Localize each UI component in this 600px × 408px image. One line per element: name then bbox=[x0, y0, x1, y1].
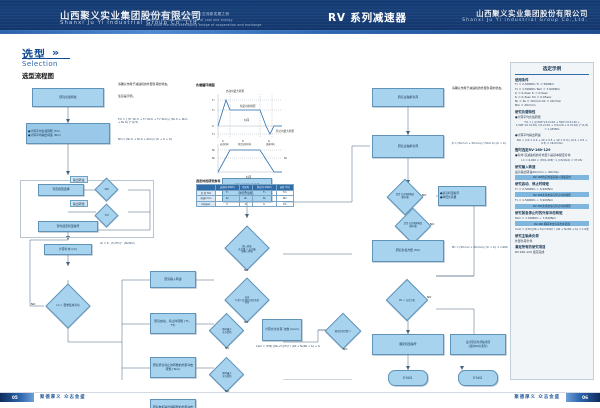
condition-table: 启动时 (MAX) 恒定时 停止时 (MAX) 运转 平均 负 荷 Nm T₁ … bbox=[196, 184, 294, 207]
load-cycle-diagram-svg: T₁T₂ 0T₃ N₁N₂ N₃ 启动时最大转矩 恒定时的转矩 停止时最大转矩 … bbox=[196, 88, 306, 180]
panel-emergency-body: Tem = 7,000Nm < 7,840Nm bbox=[515, 216, 589, 220]
section-title-en: Selection bbox=[22, 60, 58, 68]
header-accent-band bbox=[0, 30, 600, 34]
no-label-tilt-1: NO bbox=[422, 193, 426, 197]
section-rule bbox=[22, 58, 70, 59]
load-cycle-diagram-title: 负载循环简图 bbox=[196, 82, 215, 87]
svg-text:减速时间: 减速时间 bbox=[266, 142, 275, 146]
catalog-page: 山西聚义实业集团股份有限公司 Shanxi Ju Yi industrial G… bbox=[0, 0, 600, 408]
panel-heading-main-bearing: 研究主轴承负荷 bbox=[515, 233, 589, 238]
node-study-moment-2[interactable]: 研究主轴承负荷 bbox=[372, 135, 444, 158]
formula-beta: β = (50·ℓ₁·ℓ₂ + 50·ℓ₃·ℓ₄) / (50·ℓ₁·ℓ₂) (… bbox=[452, 142, 510, 145]
panel-emergency-bar: RV-160 瞬间冲击负荷允许范围 bbox=[515, 221, 589, 226]
label-output-speed: 输出转速 bbox=[70, 176, 88, 183]
svg-text:恒定运转时间: 恒定运转时间 bbox=[238, 142, 251, 146]
svg-text:T₂: T₂ bbox=[212, 108, 215, 112]
node-study-start-stop[interactable]: 研究启动、停止时转矩 (T1、T3) bbox=[150, 313, 196, 334]
panel-load-formula-1: Tm = [ (2,500³×0.2×10 + 500³×0.5×20 + 1,… bbox=[515, 121, 589, 132]
svg-text:启动时间: 启动时间 bbox=[220, 142, 229, 146]
svg-text:N₃: N₃ bbox=[284, 156, 287, 160]
panel-start-body-2: T₃ = 1,500Nm < 3,920Nm bbox=[515, 198, 589, 202]
formula-cycles: Cem = (T/N)·[(N₁+T₁)/T₀]³ / (40 + N₁/60 … bbox=[252, 345, 324, 348]
node-calc-cycles[interactable]: 计算允许负荷 次数 (Cem) bbox=[262, 319, 302, 341]
panel-load-bullet-2: ●计算平均输出转速 bbox=[515, 133, 589, 137]
header-slogan-en-1: Walk on the new industry road of coal an… bbox=[146, 18, 233, 22]
panel-start-bar-2: RV-160允许启动与停止时的转矩 bbox=[515, 204, 589, 209]
formula-average-speed: Nm = (N₁·t₁ + N₂·t₂ + N₃·t₃) / (t₁ + t₂ … bbox=[118, 138, 190, 141]
panel-tentative-formula: Lh = 6,000 × (70/1,435)³ × (15/16.0) = 3… bbox=[515, 159, 589, 163]
panel-title: 选定示例 bbox=[515, 66, 589, 75]
no-label-moment: NO bbox=[427, 295, 431, 299]
svg-text:N₁: N₁ bbox=[212, 148, 215, 152]
svg-text:时间: 时间 bbox=[244, 118, 250, 122]
node-tentative-selection[interactable]: 暂定模型选择 bbox=[38, 184, 84, 196]
panel-heading-conditions: 使用条件 bbox=[515, 77, 589, 82]
node-end-right[interactable]: END bbox=[458, 370, 498, 386]
note-example: 注意是示例。 bbox=[118, 94, 182, 98]
formula-moment: Mc = (50·ℓ₁·ℓ₂ + 50·ℓ₃·ℓ₄) / (ℓ₁ > ℓ₂) ×… bbox=[452, 246, 510, 249]
note-confirm-load: 请确认作用于减速机的外部负荷的状态。 bbox=[118, 82, 182, 86]
panel-tentative-body: ●寿命:该减速机的寿命至少是基本额定寿命 bbox=[515, 153, 589, 157]
svg-text:停止时最大转矩: 停止时最大转矩 bbox=[276, 129, 295, 133]
footer-motto-right: 聚德厚义 众志金盛 bbox=[514, 394, 560, 400]
cell: t₂ bbox=[239, 201, 252, 207]
svg-text:启动时最大转矩: 启动时最大转矩 bbox=[226, 89, 245, 93]
no-label-life: NO bbox=[31, 302, 35, 306]
panel-input-speed-bar: RV-160的实用最高输入转速适用 bbox=[515, 175, 589, 180]
no-label-input: NO bbox=[244, 268, 248, 272]
table-row: 时间sec t₁ t₂ t₃ tm bbox=[197, 201, 294, 207]
page-title: RV 系列减速器 bbox=[328, 10, 407, 25]
node-study-emergency[interactable]: 研究紧急停止时转数的外部冲击转矩 (Tem) bbox=[150, 357, 196, 378]
panel-main-bearing-body: 外部负荷条件 bbox=[515, 239, 589, 243]
panel-heading-load: 研究负载特性 bbox=[515, 109, 589, 114]
footer-motto-left: 聚德厚义 众志金盛 bbox=[40, 394, 86, 400]
selection-example-panel: 选定示例 使用条件 T₁ = 2,500Nm T₂ = 500Nm T₃ = 1… bbox=[510, 62, 594, 380]
node-calc-average[interactable]: ●计算平均负载转矩 (Tm) ●计算平均输出转速 (Nm) bbox=[26, 123, 110, 144]
node-fix-model[interactable]: 确定机型编号 bbox=[372, 334, 444, 355]
node-calc-life[interactable]: 计算寿命 (Lh) bbox=[44, 244, 92, 255]
panel-conditions-body: T₁ = 2,500Nm T₂ = 500Nm T₃ = 1,500Nm Tem… bbox=[515, 82, 589, 107]
svg-text:时间: 时间 bbox=[246, 175, 252, 179]
panel-satisfied-body: RV-160-129 选定完成 bbox=[515, 250, 589, 254]
no-label-start: NO bbox=[244, 320, 248, 324]
panel-heading-emergency: 研究紧急停止时的外部冲击转矩 bbox=[515, 210, 589, 215]
no-label-tilt-2: NO bbox=[430, 222, 434, 226]
panel-heading-input-speed: 研究输入转速 bbox=[515, 164, 589, 169]
node-study-motor-shaft[interactable]: 研究电机输出轴转矩的外部冲击转矩 (Tout) bbox=[150, 399, 196, 408]
footer-divider bbox=[0, 392, 600, 393]
cell: 时间sec bbox=[197, 201, 216, 207]
section-subtitle: 选型流程图 bbox=[22, 71, 54, 80]
node-study-moment[interactable]: 研究负载方矩 (Mc) bbox=[372, 240, 444, 262]
svg-text:T₁: T₁ bbox=[212, 98, 215, 102]
panel-heading-tentative: 暂时选定RV-160-129 bbox=[515, 147, 589, 152]
node-design-external[interactable]: 设计研究外部轴承部 (使用RV标准型) bbox=[450, 334, 506, 355]
node-study-input-speed[interactable]: 研究输入转速 bbox=[150, 271, 196, 288]
node-tentative-model[interactable]: 暂时选定机型编号 bbox=[38, 221, 98, 232]
formula-average-torque: Tm = [ (T₁³·N₁·t₁ + T₂³·N₂·t₂ + T₃³·N₃·t… bbox=[118, 118, 190, 125]
cell: t₁ bbox=[215, 201, 239, 207]
header-slogan-en-2: and build the new developing bridge of c… bbox=[146, 23, 262, 27]
speed-curve bbox=[218, 150, 282, 172]
page-header: 山西聚义实业集团股份有限公司 Shanxi Ju Yi industrial G… bbox=[0, 0, 600, 34]
panel-heading-satisfied: 满足所有的研究项目 bbox=[515, 244, 589, 249]
page-number-left: 05 bbox=[12, 395, 18, 400]
panel-heading-start-stop: 研究启动、停止时转矩 bbox=[515, 181, 589, 186]
panel-cycles-formula: Cem = (T/N)·[(N₁+T₁)/7,000]³ / (40 + N₁/… bbox=[515, 228, 589, 232]
panel-start-bar-1: RV-160允许启动与停止时的转矩 bbox=[515, 192, 589, 197]
header-right-company-en: Shanxi Ju Yi industrial Group Co.,Ltd. bbox=[462, 18, 588, 23]
node-study-main-bearing[interactable]: 研究主轴承负荷 bbox=[372, 88, 444, 107]
no-label-emergency: NO bbox=[225, 346, 229, 350]
label-output-torque: 输出转矩 bbox=[70, 200, 88, 207]
svg-text:N₂: N₂ bbox=[212, 156, 215, 160]
condition-table-title: 选定时的研究条件 bbox=[196, 178, 221, 183]
panel-input-speed-body: 最高输出转速20r/min < 40r/min bbox=[515, 170, 589, 174]
cell: tm bbox=[276, 201, 293, 207]
svg-text:T₃: T₃ bbox=[212, 132, 215, 136]
node-end-left[interactable]: END bbox=[388, 370, 428, 386]
header-slogan-cn: 走煤炭与能源产业之路,建合作与交流新发展之桥 bbox=[146, 12, 229, 17]
cell: t₃ bbox=[252, 201, 276, 207]
panel-load-bullet-1: ●计算平均负载转矩 bbox=[515, 115, 589, 119]
page-number-right: 06 bbox=[582, 395, 588, 400]
node-study-load[interactable]: 研究负载特性 bbox=[32, 88, 104, 107]
formula-life: Lh = K · (T₀/Tm)³ · (N₀/Nm) bbox=[100, 242, 158, 245]
node-raise-model[interactable]: ●提高机型编号 ●降低负荷量 bbox=[438, 186, 486, 206]
panel-load-formula-2: Nm = (10 × 0.2 + 20 × 0.5 + 10 × 0.3) / … bbox=[515, 139, 589, 146]
no-label-cycles: NO bbox=[343, 347, 347, 351]
svg-text:0: 0 bbox=[212, 124, 214, 128]
panel-start-body-1: T₁ = 2,500Nm < 3,920Nm bbox=[515, 187, 589, 191]
load-cycle-diagram: 负载循环简图 T₁T₂ bbox=[196, 82, 306, 178]
svg-text:恒定时的转矩: 恒定时的转矩 bbox=[240, 104, 256, 108]
note-external-load: 请确认作用于减速机的外部负荷的状态。 bbox=[452, 86, 508, 90]
